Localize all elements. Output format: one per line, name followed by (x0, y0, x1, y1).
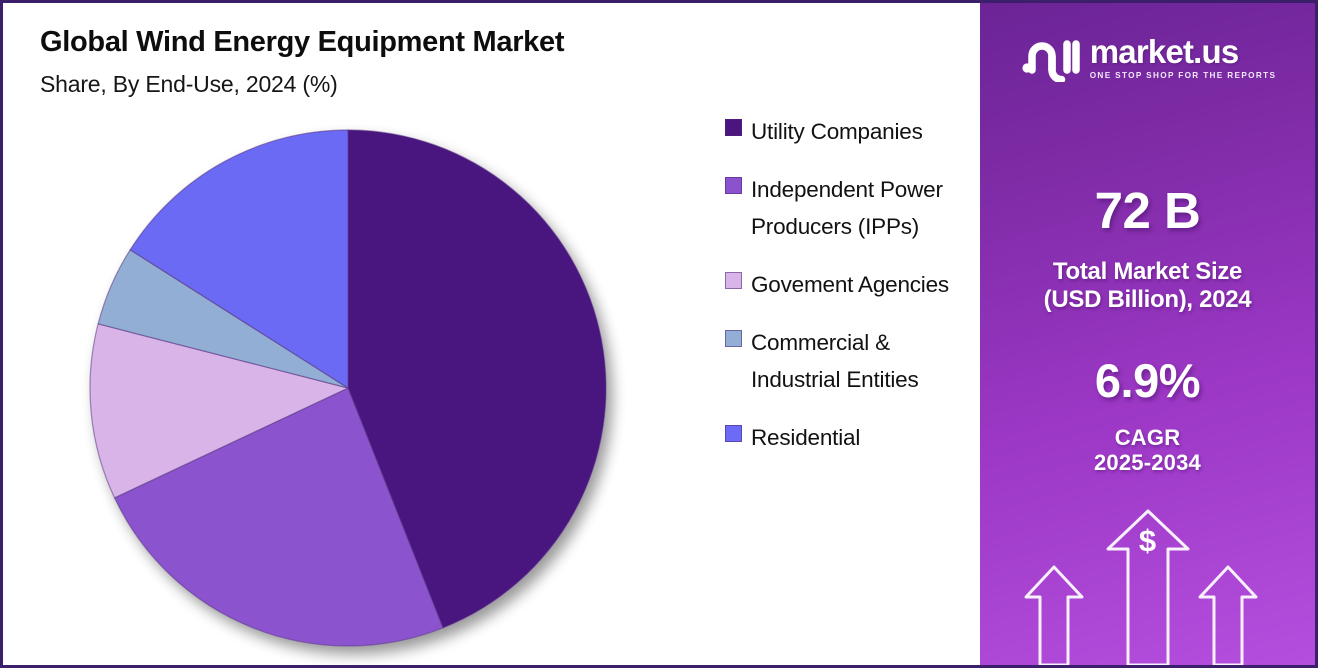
chart-subtitle: Share, By End-Use, 2024 (%) (40, 71, 338, 98)
market-us-logo-icon (1019, 30, 1081, 82)
pie-slices (90, 130, 606, 646)
stats-panel: market.us ONE STOP SHOP FOR THE REPORTS … (980, 3, 1315, 665)
legend-item-label: Independent Power Producers (IPPs) (751, 171, 977, 245)
pie-chart: 44% (90, 130, 606, 646)
page-title: Global Wind Energy Equipment Market (40, 26, 564, 59)
logo-text-block: market.us ONE STOP SHOP FOR THE REPORTS (1090, 35, 1277, 80)
cagr-label-line2: 2025-2034 (980, 450, 1315, 476)
growth-arrows-icon (980, 505, 1315, 665)
legend: Utility Companies Independent Power Prod… (725, 113, 977, 477)
infographic-root: Global Wind Energy Equipment Market Shar… (0, 0, 1318, 668)
market-size-label-line2: (USD Billion), 2024 (980, 286, 1315, 314)
legend-item-commercial-industrial-entities[interactable]: Commercial & Industrial Entities (725, 324, 977, 398)
legend-swatch-icon (725, 272, 742, 289)
legend-item-independent-power-producers[interactable]: Independent Power Producers (IPPs) (725, 171, 977, 245)
legend-item-government-agencies[interactable]: Govement Agencies (725, 266, 977, 303)
legend-item-residential[interactable]: Residential (725, 419, 977, 456)
legend-swatch-icon (725, 330, 742, 347)
cagr-label-line1: CAGR (980, 425, 1315, 451)
brand-logo[interactable]: market.us ONE STOP SHOP FOR THE REPORTS (980, 30, 1315, 82)
legend-swatch-icon (725, 425, 742, 442)
cagr-value: 6.9% (980, 353, 1315, 408)
legend-item-label: Govement Agencies (751, 266, 949, 303)
legend-item-label: Utility Companies (751, 113, 923, 150)
market-size-label-line1: Total Market Size (980, 258, 1315, 286)
logo-wordmark: market.us (1090, 35, 1277, 68)
logo-tagline: ONE STOP SHOP FOR THE REPORTS (1090, 71, 1277, 80)
market-size-value: 72 B (980, 181, 1315, 240)
legend-item-label: Residential (751, 419, 860, 456)
chart-panel: Global Wind Energy Equipment Market Shar… (3, 3, 983, 665)
legend-item-utility-companies[interactable]: Utility Companies (725, 113, 977, 150)
pie-chart-svg (90, 130, 606, 646)
legend-swatch-icon (725, 177, 742, 194)
legend-item-label: Commercial & Industrial Entities (751, 324, 977, 398)
legend-swatch-icon (725, 119, 742, 136)
